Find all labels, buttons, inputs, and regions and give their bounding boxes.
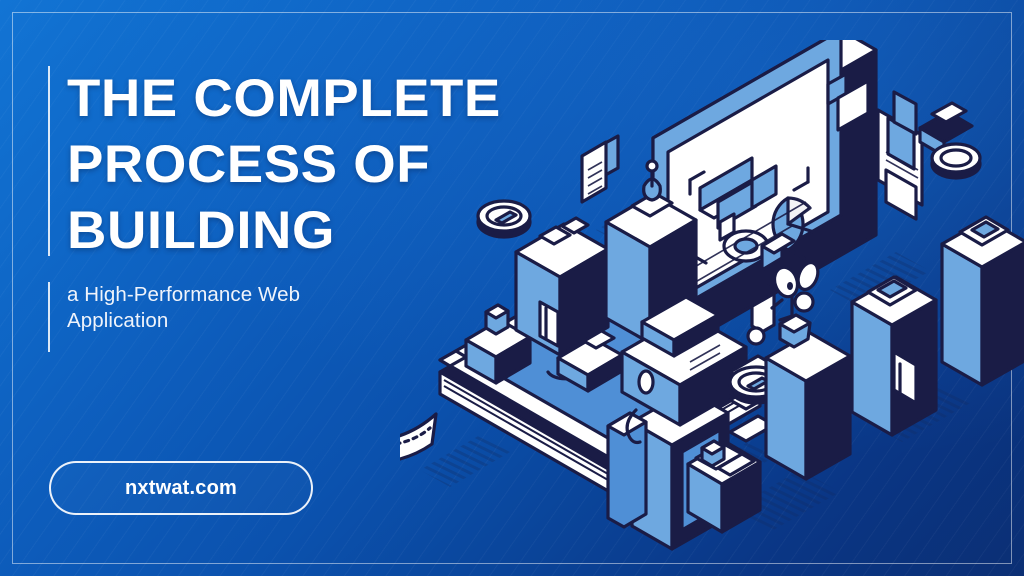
- document-icon: [582, 136, 618, 202]
- page-subtitle: a High-Performance Web Application: [67, 282, 397, 334]
- bookmark-ribbon: [400, 414, 436, 462]
- website-cta-label: nxtwat.com: [125, 477, 237, 500]
- coin-token-5: [932, 144, 980, 178]
- page-title: THE COMPLETE PROCESS OF BUILDING: [67, 66, 583, 264]
- headline-accent-rule: [48, 66, 50, 256]
- promo-banner: .o { stroke:#1a1c46; stroke-width:3.2; s…: [0, 0, 1024, 576]
- website-cta-button[interactable]: nxtwat.com: [49, 461, 313, 515]
- subhead-accent-rule: [48, 282, 50, 352]
- text-block: THE COMPLETE PROCESS OF BUILDING a High-…: [48, 66, 568, 264]
